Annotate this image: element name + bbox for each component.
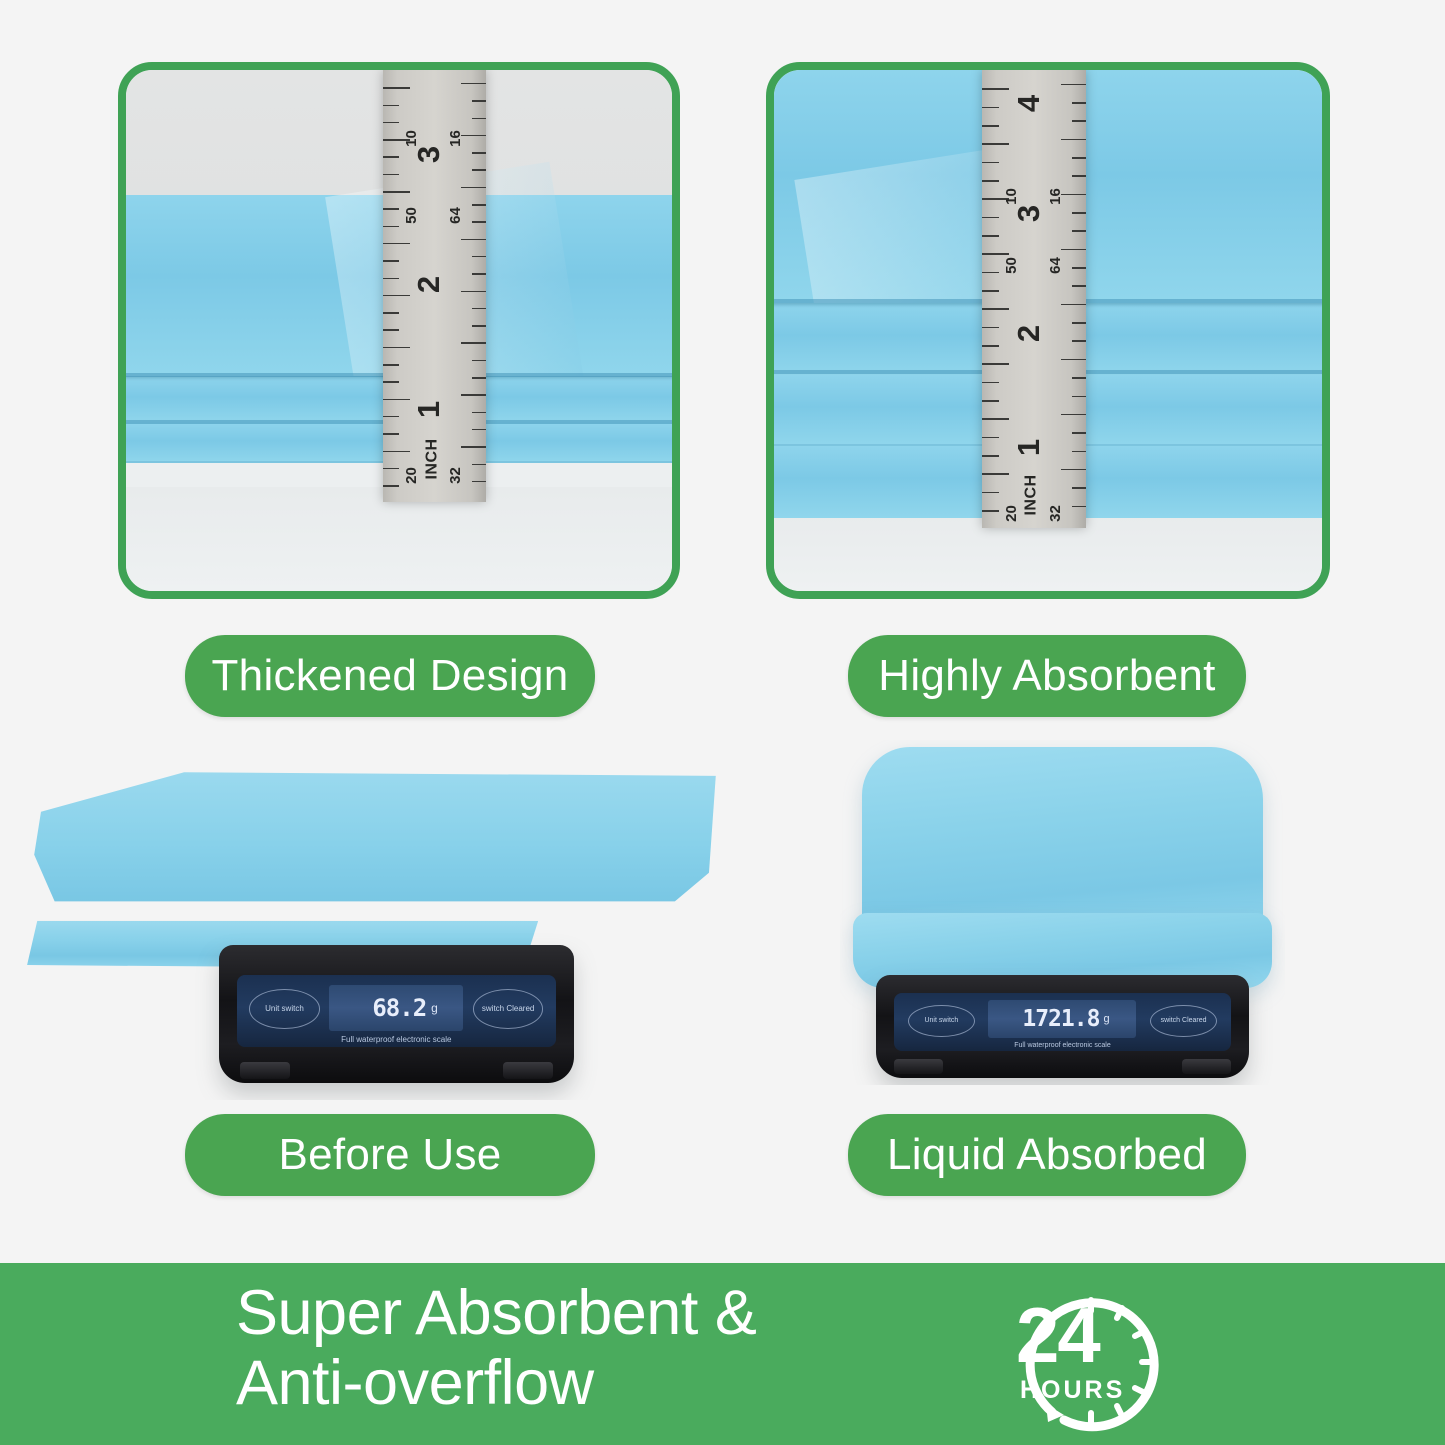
scale-foot-right <box>503 1062 553 1079</box>
ruler-metric-32: 32 <box>1048 505 1063 522</box>
thickened-photo: 3 2 1 INCH 10 50 20 16 64 32 <box>126 70 672 591</box>
scale-brand-text: Full waterproof electronic scale <box>894 1042 1230 1049</box>
ruler-metric-10: 10 <box>1004 188 1019 205</box>
headline-line-1: Super Absorbent & <box>236 1279 976 1349</box>
ruler-inch-1: 1 <box>413 401 444 418</box>
unit-switch-button[interactable]: Unit switch <box>908 1005 975 1037</box>
ruler-inch-2: 2 <box>1013 324 1044 341</box>
ruler-metric-50: 50 <box>404 208 419 225</box>
label-thickened-design: Thickened Design <box>185 635 595 717</box>
banner-headline: Super Absorbent & Anti-overflow <box>236 1279 976 1419</box>
ruler-face: 4 3 2 1 INCH 10 50 20 16 64 32 <box>982 70 1086 528</box>
scale-brand-text: Full waterproof electronic scale <box>237 1035 557 1044</box>
ruler-metric-10: 10 <box>404 130 419 147</box>
scale-reading: 1721.8 <box>1022 1006 1099 1032</box>
ruler-inch-3: 3 <box>1013 205 1044 222</box>
scale-unit: g <box>431 1001 438 1015</box>
label-text: Thickened Design <box>212 651 569 701</box>
steel-ruler: 4 3 2 1 INCH 10 50 20 16 64 32 <box>982 70 1086 528</box>
ruler-inch-2: 2 <box>413 276 444 293</box>
ruler-metric-20: 20 <box>404 467 419 484</box>
ruler-unit-label: INCH <box>424 438 440 479</box>
photo-frame-thickened: 3 2 1 INCH 10 50 20 16 64 32 <box>118 62 680 599</box>
ruler-face: 3 2 1 INCH 10 50 20 16 64 32 <box>383 70 487 502</box>
photo-backdrop-bottom <box>126 487 672 591</box>
ruler-inch-3: 3 <box>413 146 444 163</box>
24-hours-badge: 24 HOURS <box>1012 1282 1170 1434</box>
badge-number: 24 <box>1016 1296 1134 1374</box>
clear-switch-button[interactable]: switch Cleared <box>1150 1005 1217 1037</box>
label-liquid-absorbed: Liquid Absorbed <box>848 1114 1246 1196</box>
label-text: Before Use <box>278 1130 501 1180</box>
scale-foot-right <box>1182 1059 1231 1073</box>
clear-switch-button[interactable]: switch Cleared <box>473 989 543 1028</box>
scale-display: 1721.8 g <box>988 1000 1136 1038</box>
label-text: Highly Absorbent <box>878 651 1215 701</box>
scale-foot-left <box>240 1062 290 1079</box>
scale-foot-left <box>894 1059 943 1073</box>
absorbent-photo: 4 3 2 1 INCH 10 50 20 16 64 32 <box>774 70 1322 591</box>
unit-switch-button[interactable]: Unit switch <box>249 989 319 1028</box>
liquid-absorbed-photo: Unit switch 1721.8 g switch Cleared Full… <box>840 740 1285 1085</box>
scale-unit: g <box>1103 1013 1109 1025</box>
scale-display: 68.2 g <box>329 985 463 1031</box>
ruler-metric-20: 20 <box>1004 505 1019 522</box>
ruler-metric-16: 16 <box>448 130 463 147</box>
scale-reading: 68.2 <box>372 994 426 1022</box>
ruler-inch-1: 1 <box>1013 439 1044 456</box>
label-text: Liquid Absorbed <box>887 1130 1207 1180</box>
ruler-metric-64: 64 <box>448 208 463 225</box>
label-highly-absorbent: Highly Absorbent <box>848 635 1246 717</box>
scale-panel: Unit switch 1721.8 g switch Cleared Full… <box>894 993 1230 1051</box>
ruler-metric-64: 64 <box>1048 257 1063 274</box>
scale-panel: Unit switch 68.2 g switch Cleared Full w… <box>237 975 557 1047</box>
digital-scale: Unit switch 1721.8 g switch Cleared Full… <box>876 975 1250 1079</box>
ruler-metric-32: 32 <box>448 467 463 484</box>
ruler-metric-16: 16 <box>1048 188 1063 205</box>
before-use-photo: Unit switch 68.2 g switch Cleared Full w… <box>20 755 730 1100</box>
steel-ruler: 3 2 1 INCH 10 50 20 16 64 32 <box>383 70 487 502</box>
ruler-metric-50: 50 <box>1004 257 1019 274</box>
badge-subtitle: HOURS <box>1020 1378 1136 1403</box>
label-before-use: Before Use <box>185 1114 595 1196</box>
ruler-inch-4: 4 <box>1013 95 1044 112</box>
headline-line-2: Anti-overflow <box>236 1349 976 1419</box>
ruler-unit-label: INCH <box>1024 475 1040 516</box>
photo-frame-absorbent: 4 3 2 1 INCH 10 50 20 16 64 32 <box>766 62 1330 599</box>
digital-scale: Unit switch 68.2 g switch Cleared Full w… <box>219 945 574 1083</box>
